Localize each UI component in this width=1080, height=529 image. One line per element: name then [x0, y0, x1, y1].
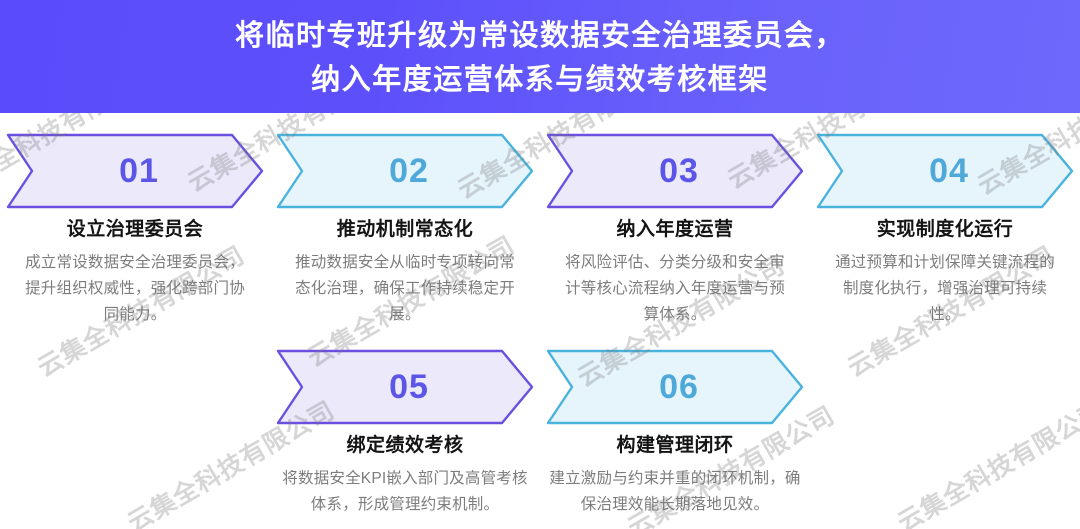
step-description-02: 推动数据安全从临时专项转向常态化治理，确保工作持续稳定开展。 [288, 250, 523, 328]
chevron-banner-02: 02 [270, 129, 540, 213]
step-number-02: 02 [270, 129, 540, 213]
step-number-01: 01 [0, 129, 270, 213]
chevron-banner-01: 01 [0, 129, 270, 213]
step-number-04: 04 [810, 129, 1080, 213]
step-title-01: 设立治理委员会 [67, 217, 204, 243]
step-card-05[interactable]: 05 绑定绩效考核 将数据安全KPI嵌入部门及高管考核体系，形成管理约束机制。 [270, 345, 540, 518]
chevron-banner-03: 03 [540, 129, 810, 213]
step-card-04[interactable]: 04 实现制度化运行 通过预算和计划保障关键流程的制度化执行，增强治理可持续性。 [810, 129, 1080, 328]
step-description-04: 通过预算和计划保障关键流程的制度化执行，增强治理可持续性。 [828, 250, 1063, 328]
step-description-03: 将风险评估、分类分级和安全审计等核心流程纳入年度运营与预算体系。 [558, 250, 793, 328]
step-title-04: 实现制度化运行 [877, 217, 1014, 243]
header-title-line-1: 将临时专班升级为常设数据安全治理委员会， [235, 14, 845, 58]
step-number-03: 03 [540, 129, 810, 213]
step-card-06[interactable]: 06 构建管理闭环 建立激励与约束并重的闭环机制，确保治理效能长期落地见效。 [540, 345, 810, 518]
steps-row-bottom: 05 绑定绩效考核 将数据安全KPI嵌入部门及高管考核体系，形成管理约束机制。 … [0, 345, 1080, 518]
step-card-01[interactable]: 01 设立治理委员会 成立常设数据安全治理委员会，提升组织权威性，强化跨部门协同… [0, 129, 270, 328]
step-card-03[interactable]: 03 纳入年度运营 将风险评估、分类分级和安全审计等核心流程纳入年度运营与预算体… [540, 129, 810, 328]
header-title-line-2: 纳入年度运营体系与绩效考核框架 [311, 58, 769, 102]
chevron-banner-04: 04 [810, 129, 1080, 213]
step-description-06: 建立激励与约束并重的闭环机制，确保治理效能长期落地见效。 [546, 466, 804, 518]
step-title-02: 推动机制常态化 [337, 217, 474, 243]
chevron-banner-06: 06 [540, 345, 810, 429]
step-title-03: 纳入年度运营 [616, 217, 733, 243]
chevron-banner-05: 05 [270, 345, 540, 429]
steps-row-top: 01 设立治理委员会 成立常设数据安全治理委员会，提升组织权威性，强化跨部门协同… [0, 129, 1080, 328]
step-description-05: 将数据安全KPI嵌入部门及高管考核体系，形成管理约束机制。 [276, 466, 534, 518]
page-header-banner: 将临时专班升级为常设数据安全治理委员会， 纳入年度运营体系与绩效考核框架 [0, 0, 1080, 113]
step-number-05: 05 [270, 345, 540, 429]
step-card-02[interactable]: 02 推动机制常态化 推动数据安全从临时专项转向常态化治理，确保工作持续稳定开展… [270, 129, 540, 328]
step-number-06: 06 [540, 345, 810, 429]
step-title-06: 构建管理闭环 [616, 433, 733, 459]
step-description-01: 成立常设数据安全治理委员会，提升组织权威性，强化跨部门协同能力。 [18, 250, 253, 328]
step-title-05: 绑定绩效考核 [346, 433, 463, 459]
